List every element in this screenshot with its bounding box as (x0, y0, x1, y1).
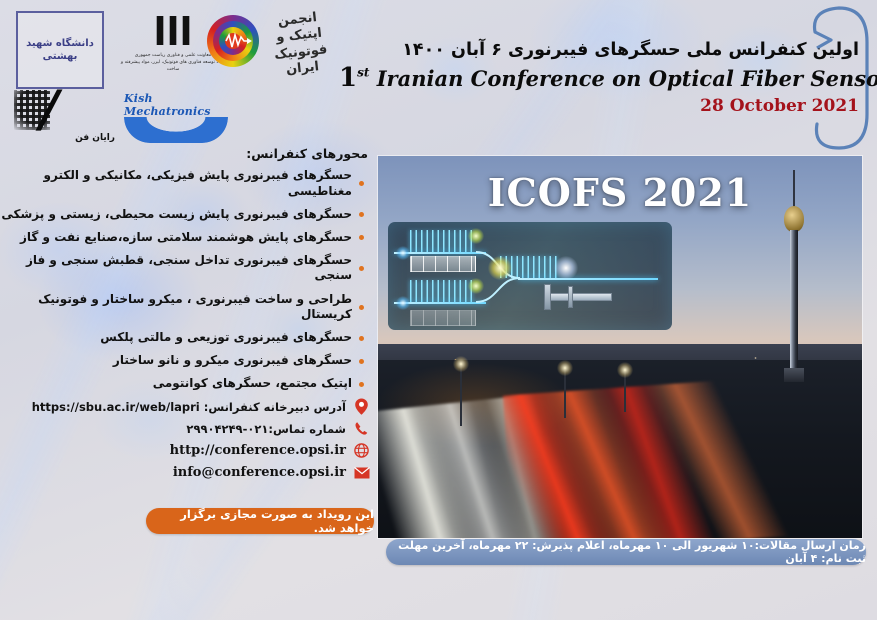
contact-row-address: آدرس دبیرخانه کنفرانس: https://sbu.ac.ir… (0, 398, 376, 415)
caliper-jaw-fixed (544, 284, 551, 310)
title-persian: اولین کنفرانس ملی حسگرهای فیبرنوری ۶ آبا… (339, 40, 859, 62)
topic-item: اپتیک مجتمع، حسگرهای کوانتومی (0, 376, 368, 392)
sensor-array-top (410, 256, 476, 272)
virtual-event-notice: این رویداد به صورت مجازی برگزار خواهد شد… (146, 508, 374, 534)
opsi-waveform-arrow-icon (200, 8, 266, 74)
topic-item: حسگرهای فیبرنوری تداخل سنجی، قطبش سنجی و… (0, 253, 368, 284)
title-ordinal: 1st (339, 63, 369, 93)
red-light-trails (503, 373, 843, 538)
lamp-glow (557, 360, 573, 376)
topic-item: حسگرهای فیبرنوری میکرو و نانو ساختار (0, 353, 368, 369)
kish-swoosh-icon (124, 117, 228, 143)
title-english-text: Iranian Conference on Optical Fiber Sens… (377, 66, 877, 91)
tower-base (784, 368, 804, 382)
topic-label: حسگرهای پایش هوشمند سلامتی سازه،صنایع نف… (0, 230, 352, 246)
caliper-illustration (540, 284, 612, 310)
conference-topics-section: محورهای کنفرانس: حسگرهای فیبرنوری پایش ف… (0, 146, 376, 400)
topic-item: حسگرهای فیبرنوری توزیعی و مالتی پلکس (0, 330, 368, 346)
opsi-persian-wordmark: انجمن اپتیک و فوتونیک ایران (266, 12, 334, 77)
detector-glow (554, 256, 578, 280)
fiber-interferometer-diagram (388, 222, 672, 330)
sponsor-logos-header: دانشگاه شهید بهشتی ا​ا​ا معاونت علمی و ف… (0, 0, 390, 145)
kish-mechatronics-wordmark: Kish Mechatronics (124, 92, 236, 118)
light-source-top (396, 246, 410, 260)
bullet-icon (359, 359, 364, 364)
contact-address-text[interactable]: آدرس دبیرخانه کنفرانس: https://sbu.ac.ir… (0, 400, 346, 414)
center-glow (488, 256, 512, 280)
caliper-jaw-sliding (568, 286, 573, 308)
contact-email-text[interactable]: info@conference.opsi.ir (0, 465, 346, 480)
topic-label: حسگرهای فیبرنوری توزیعی و مالتی پلکس (0, 330, 352, 346)
sensor-array-bottom (410, 310, 476, 326)
fiber-output (518, 278, 658, 280)
sbu-logo-caption: دانشگاه شهید بهشتی (18, 37, 102, 64)
optics-photonics-society-iran-logo (200, 8, 266, 74)
topic-item: طراحی و ساخت فیبرنوری ، میکرو ساختار و ف… (0, 292, 368, 323)
fiber-coil-top (410, 230, 476, 252)
contact-row-phone: شماره تماس:۰۲۱-۲۹۹۰۴۲۴۹ (0, 420, 376, 437)
bullet-icon (359, 266, 364, 271)
conference-poster: دانشگاه شهید بهشتی ا​ا​ا معاونت علمی و ف… (0, 0, 877, 620)
topic-item: حسگرهای پایش هوشمند سلامتی سازه،صنایع نف… (0, 230, 368, 246)
lamp-glow (617, 362, 633, 378)
bullet-icon (359, 235, 364, 240)
topic-item: حسگرهای فیبرنوری پایش زیست محیطی، زیستی … (0, 207, 368, 223)
rayan-fan-logo-caption: رایان فن (75, 133, 115, 143)
green-glow-top (468, 228, 484, 244)
kish-mechatronics-logo: Kish Mechatronics (124, 92, 236, 140)
title-english: 1st Iranian Conference on Optical Fiber … (339, 63, 859, 93)
bullet-icon (359, 382, 364, 387)
envelope-icon (353, 464, 370, 481)
hero-title: ICOFS 2021 (378, 170, 862, 215)
topic-label: حسگرهای فیبرنوری پایش زیست محیطی، زیستی … (0, 207, 352, 223)
phone-icon (353, 420, 370, 437)
bullet-icon (359, 336, 364, 341)
contact-row-email: info@conference.opsi.ir (0, 464, 376, 481)
rayan-fan-logo: / رایان فن (12, 88, 117, 140)
contact-row-website: http://conference.opsi.ir (0, 442, 376, 459)
topic-label: حسگرهای فیبرنوری تداخل سنجی، قطبش سنجی و… (0, 253, 352, 284)
caliper-bar (550, 293, 612, 301)
deadlines-bar: زمان ارسال مقالات:۱۰ شهریور الی ۱۰ مهرما… (386, 539, 866, 565)
tower-shaft (790, 230, 798, 382)
topic-label: حسگرهای فیبرنوری میکرو و نانو ساختار (0, 353, 352, 369)
shahid-beheshti-university-logo: دانشگاه شهید بهشتی (16, 11, 104, 89)
bullet-icon (359, 212, 364, 217)
light-source-bottom (396, 296, 410, 310)
bullet-icon (359, 305, 364, 310)
hero-image: ICOFS 2021 (378, 156, 862, 538)
globe-icon (353, 442, 370, 459)
topic-label: طراحی و ساخت فیبرنوری ، میکرو ساختار و ف… (0, 292, 352, 323)
contact-section: آدرس دبیرخانه کنفرانس: https://sbu.ac.ir… (0, 398, 376, 486)
contact-phone-text[interactable]: شماره تماس:۰۲۱-۲۹۹۰۴۲۴۹ (0, 422, 346, 436)
green-glow-bottom (468, 278, 484, 294)
topic-item: حسگرهای فیبرنوری پایش فیزیکی، مکانیکی و … (0, 168, 368, 199)
opsi-persian-wordmark-text: انجمن اپتیک و فوتونیک ایران (263, 9, 337, 81)
fiber-coil-bottom (410, 280, 476, 302)
location-pin-icon (353, 398, 370, 415)
topic-label: حسگرهای فیبرنوری پایش فیزیکی، مکانیکی و … (0, 168, 352, 199)
sponsor-logos-footer: ⊸ LABINET Laboratory & Industrial Sales … (0, 570, 877, 620)
contact-website-text[interactable]: http://conference.opsi.ir (0, 443, 346, 458)
bullet-icon (359, 181, 364, 186)
title-date-english: 28 October 2021 (339, 96, 859, 116)
topic-label: اپتیک مجتمع، حسگرهای کوانتومی (0, 376, 352, 392)
topics-heading: محورهای کنفرانس: (0, 146, 368, 161)
conference-title-block: اولین کنفرانس ملی حسگرهای فیبرنوری ۶ آبا… (339, 40, 859, 116)
lamp-glow (453, 356, 469, 372)
